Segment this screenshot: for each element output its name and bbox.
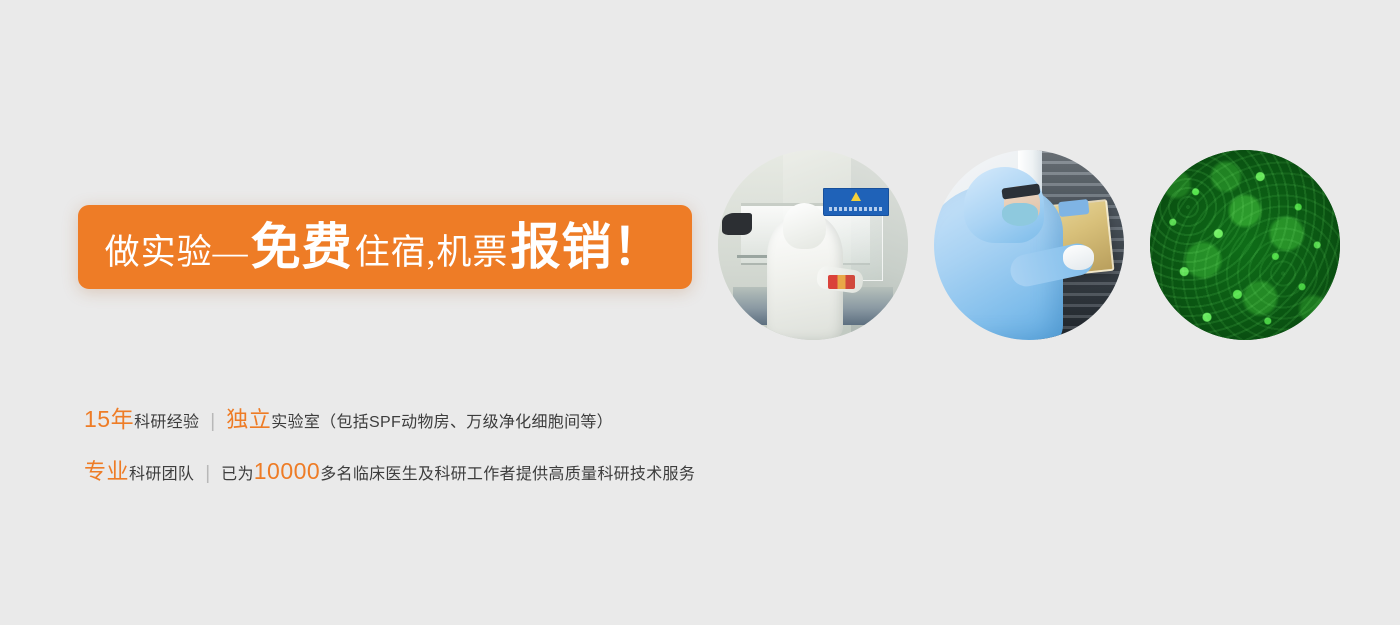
feature-2-label-clients: 多名临床医生及科研工作者提供高质量科研技术服务 (320, 460, 695, 484)
photo-cleanroom-biosafety-cabinet[interactable] (718, 150, 908, 340)
lab-technician-hood (783, 203, 827, 249)
feature-2-label-team: 科研团队 (129, 460, 194, 484)
feature-1-label-experience: 科研经验 (134, 408, 199, 432)
cabinet-nozzle (722, 213, 752, 236)
feature-line-1: 15年 科研经验 | 独立 实验室（包括SPF动物房、万级净化细胞间等） (84, 400, 884, 434)
photo-3-content (1150, 150, 1340, 340)
feature-2-divider: | (205, 463, 210, 485)
warning-sign-icon (823, 188, 889, 216)
feature-list: 15年 科研经验 | 独立 实验室（包括SPF动物房、万级净化细胞间等） 专业 … (84, 400, 884, 486)
promo-segment-1: 做实验— (105, 235, 249, 270)
feature-1-accent-independent: 独立 (226, 402, 271, 434)
feature-1-accent-years: 15年 (84, 400, 134, 434)
feature-2-accent-count: 10000 (254, 458, 320, 485)
photo-1-content (718, 150, 908, 340)
photo-gallery (718, 150, 1340, 340)
promo-segment-3: 住宿,机票 (355, 235, 509, 270)
photo-blue-suit-researcher-animal-cage[interactable] (934, 150, 1124, 340)
feature-2-accent-professional: 专业 (84, 454, 129, 486)
promo-headline-banner[interactable]: 做实验— 免费 住宿,机票 报销！ (78, 205, 692, 289)
promo-headline-text: 做实验— 免费 住宿,机票 报销！ (105, 222, 666, 272)
animal-cage-lid (1058, 199, 1090, 217)
feature-line-2: 专业 科研团队 | 已为 10000 多名临床医生及科研工作者提供高质量科研技术… (84, 454, 884, 486)
promo-segment-4: 报销！ (510, 222, 663, 272)
feature-2-label-served: 已为 (221, 460, 254, 484)
fluorescence-speckle (1150, 150, 1340, 340)
photo-gfp-fluorescence-cells[interactable] (1150, 150, 1340, 340)
promo-banner-page: 做实验— 免费 住宿,机票 报销！ (0, 0, 1400, 625)
feature-1-divider: | (210, 411, 215, 433)
researcher-glove (1063, 245, 1093, 270)
photo-2-content (934, 150, 1124, 340)
promo-segment-2: 免费 (251, 222, 353, 272)
feature-1-label-lab: 实验室（包括SPF动物房、万级净化细胞间等） (271, 408, 613, 432)
sample-tubes (828, 275, 855, 288)
